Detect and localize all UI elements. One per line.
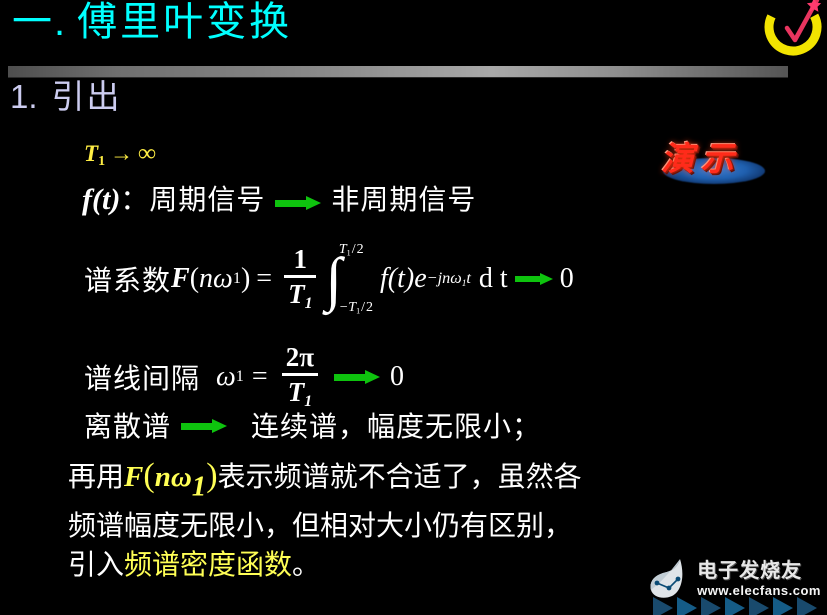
coefficient-argument-subscript: 1 <box>233 269 241 288</box>
integral-expression: ∫ T1/2 −T1/2 <box>325 248 373 310</box>
slide-canvas: 一. 傅里叶变换 1. 引出 T1→∞ f(t)：周期信号非周期信号 谱系数 F… <box>0 0 827 615</box>
integral-symbol: ∫ <box>325 256 341 303</box>
subsection-heading: 1. 引出 <box>10 80 122 113</box>
limit-symbol-subscript: 1 <box>98 154 105 169</box>
two-pi-over-t1-fraction: 2π T1 <box>282 344 318 410</box>
spacing-result: 0 <box>390 361 404 393</box>
paragraph-formula-paren-close: ) <box>206 457 217 494</box>
section-title: 傅里叶变换 <box>77 2 292 42</box>
coefficient-paren-open: ( <box>190 263 199 295</box>
paragraph-line3-pre: 引入 <box>68 549 124 580</box>
green-right-arrow-icon <box>515 273 553 284</box>
paragraph-line2: 频谱幅度无限小，但相对大小仍有区别， <box>68 510 572 541</box>
differential: d t <box>479 263 508 295</box>
spacing-label: 谱线间隔 <box>84 357 200 397</box>
integrand-function: f(t)e <box>380 263 427 295</box>
coefficient-function: F <box>171 263 190 295</box>
integrand-exponent: −jnω1t <box>427 269 471 289</box>
coefficient-result: 0 <box>560 263 574 295</box>
demo-stamp-label: 演示 <box>661 132 771 180</box>
spacing-line: 谱线间隔 ω1 = 2π T1 0 <box>84 344 404 410</box>
integral-limits: T1/2 −T1/2 <box>339 248 373 310</box>
elecfans-leaf-logo-icon <box>647 557 691 601</box>
coefficient-equals: = <box>256 263 272 295</box>
paragraph-part2: 表示频谱就不合适了，虽然各 <box>218 461 582 492</box>
limit-arrow: → <box>105 141 138 166</box>
signal-function: f(t) <box>82 183 120 216</box>
fraction-numerator: 2π <box>282 344 318 373</box>
signal-from-label: 周期信号 <box>149 184 265 215</box>
coefficient-label: 谱系数 <box>84 259 171 299</box>
integral-lower-limit: −T1/2 <box>339 300 373 316</box>
discrete-to-label: 连续谱，幅度无限小； <box>251 405 541 445</box>
subsection-title: 引出 <box>52 80 122 113</box>
watermark-brand: 电子发烧友 <box>697 561 821 581</box>
limit-symbol: T <box>84 141 98 166</box>
watermark: 电子发烧友 www.elecfans.com <box>647 557 821 601</box>
coefficient-argument: nω <box>199 263 233 295</box>
discrete-line: 离散谱 连续谱，幅度无限小； <box>84 405 541 445</box>
coefficient-paren-close: ) <box>241 263 250 295</box>
slide-body: T1→∞ f(t)：周期信号非周期信号 谱系数 F(nω1) = 1 T1 ∫ … <box>0 128 827 615</box>
one-over-t1-fraction: 1 T1 <box>284 246 316 312</box>
paragraph-part1: 再用 <box>68 461 124 492</box>
fraction-numerator: 1 <box>289 246 311 275</box>
watermark-url: www.elecfans.com <box>697 584 821 597</box>
watermark-text: 电子发烧友 www.elecfans.com <box>697 561 821 597</box>
paragraph-formula-arg: nω <box>155 461 192 493</box>
paragraph-line3-highlight: 频谱密度函数 <box>124 549 292 580</box>
green-right-arrow-icon <box>275 196 321 209</box>
section-number: 一. <box>12 2 67 42</box>
signal-line: f(t)：周期信号非周期信号 <box>82 178 476 218</box>
paragraph-formula-f: F <box>124 461 143 493</box>
spacing-variable: ω <box>216 361 236 393</box>
limit-line: T1→∞ <box>84 140 156 170</box>
demo-stamp[interactable]: 演示 <box>655 132 773 188</box>
paragraph-line3-post: 。 <box>292 549 320 580</box>
coefficient-line: 谱系数 F(nω1) = 1 T1 ∫ T1/2 −T1/2 f(t)e−jnω… <box>84 246 574 312</box>
crescent-check-star-logo-icon <box>759 0 825 56</box>
paragraph-formula-arg-subscript: 1 <box>192 470 207 502</box>
spacing-equals: = <box>252 361 268 393</box>
discrete-from-label: 离散谱 <box>84 405 171 445</box>
green-right-arrow-icon <box>334 370 380 383</box>
fraction-denominator: T1 <box>284 278 316 312</box>
page-title: 一. 傅里叶变换 <box>12 2 292 42</box>
subsection-number: 1. <box>10 80 38 113</box>
integral-upper-limit: T1/2 <box>339 242 373 258</box>
signal-to-label: 非周期信号 <box>331 184 476 215</box>
green-right-arrow-icon <box>181 419 227 432</box>
signal-colon: ： <box>120 184 149 215</box>
spacing-variable-subscript: 1 <box>236 367 244 386</box>
paragraph-formula-paren-open: ( <box>143 457 154 494</box>
infinity-symbol: ∞ <box>138 140 156 167</box>
header-divider <box>8 66 788 77</box>
